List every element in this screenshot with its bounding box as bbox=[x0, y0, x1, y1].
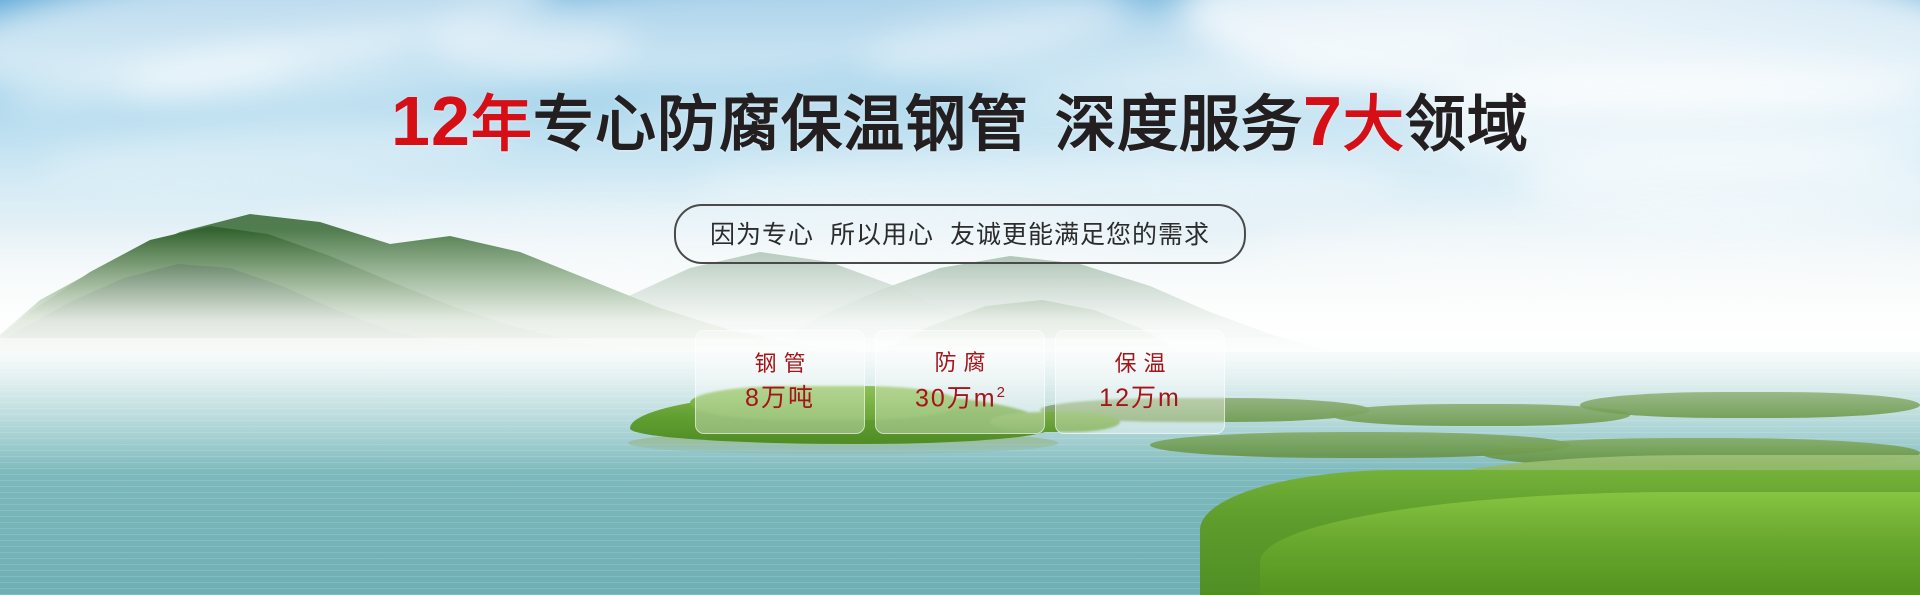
stat-card-value: 8万吨 bbox=[745, 386, 815, 411]
headline-fields-text: 领域 bbox=[1405, 90, 1529, 158]
stat-card-label: 防腐 bbox=[927, 352, 992, 374]
stat-card-value: 30万m2 bbox=[915, 385, 1005, 411]
stat-card-value: 12万m bbox=[1099, 386, 1181, 411]
stat-card-label: 保温 bbox=[1107, 353, 1172, 375]
subtitle-part-3: 友诚更能满足您的需求 bbox=[950, 221, 1210, 249]
headline-main-text: 专心防腐保温钢管 bbox=[533, 90, 1029, 158]
subtitle-pill: 因为专心所以用心友诚更能满足您的需求 bbox=[674, 204, 1246, 264]
subtitle-part-2: 所以用心 bbox=[830, 221, 934, 249]
hero-banner: 12年专心防腐保温钢管深度服务7大领域 因为专心所以用心友诚更能满足您的需求 钢… bbox=[0, 0, 1920, 595]
subtitle-part-1: 因为专心 bbox=[710, 221, 814, 249]
stat-card-value-superscript: 2 bbox=[997, 384, 1005, 401]
stat-card-steel-pipe[interactable]: 钢管 8万吨 bbox=[695, 330, 865, 434]
headline-years-unit: 年 bbox=[471, 90, 533, 158]
stat-card-anticorrosion[interactable]: 防腐 30万m2 bbox=[875, 330, 1045, 434]
headline-service-text: 深度服务 bbox=[1055, 90, 1303, 158]
headline-fields-unit: 大 bbox=[1343, 90, 1405, 158]
stat-card-insulation[interactable]: 保温 12万m bbox=[1055, 330, 1225, 434]
page-title: 12年专心防腐保温钢管深度服务7大领域 bbox=[0, 86, 1920, 156]
stat-card-label: 钢管 bbox=[747, 353, 812, 375]
stat-card-group: 钢管 8万吨 防腐 30万m2 保温 12万m bbox=[695, 330, 1225, 434]
headline-years-number: 12 bbox=[391, 82, 471, 160]
headline-fields-number: 7 bbox=[1303, 82, 1343, 160]
